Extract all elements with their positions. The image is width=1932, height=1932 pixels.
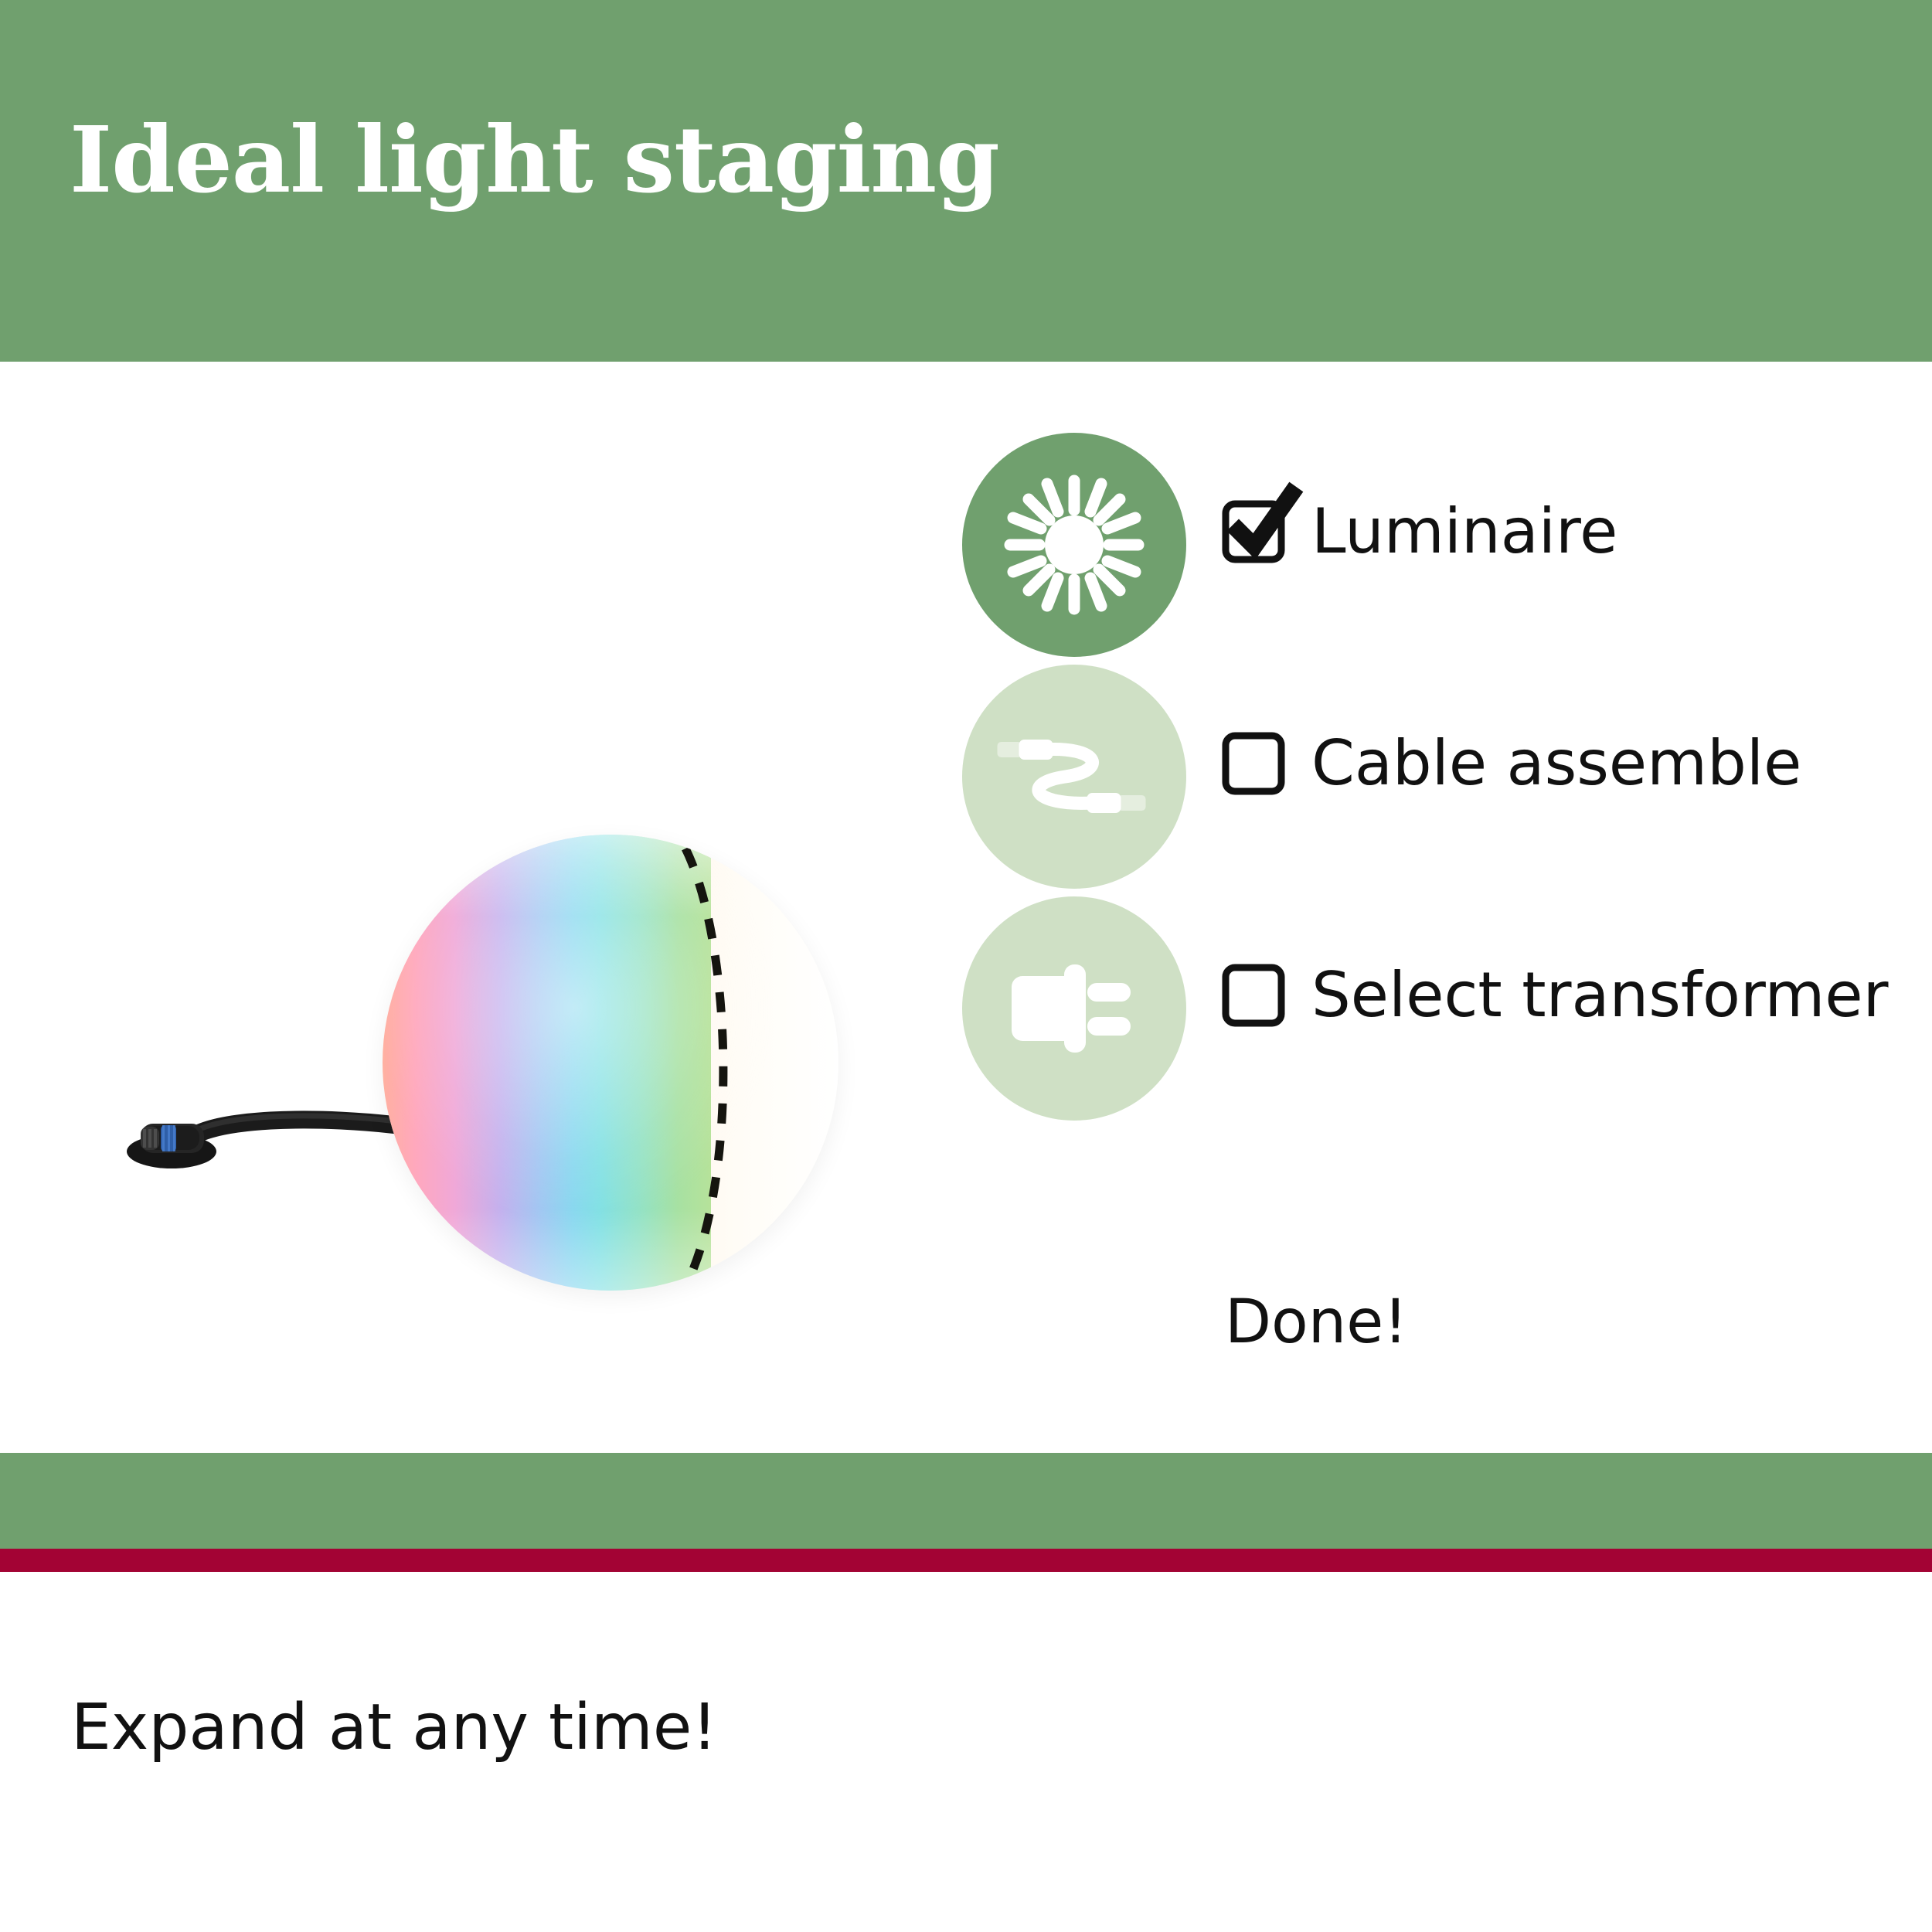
checklist-label-luminaire: Luminaire	[1311, 501, 1617, 563]
footer-green-band	[0, 1453, 1932, 1549]
checkbox-luminaire[interactable]	[1225, 503, 1282, 560]
cable-icon	[992, 715, 1158, 838]
cable-icon-circle	[962, 665, 1186, 889]
page-root: Ideal light staging	[0, 0, 1932, 1932]
checkbox-unchecked-icon	[1216, 940, 1307, 1032]
checklist-item-cable[interactable]: Cable assemble	[1225, 733, 1801, 794]
done-text: Done!	[1225, 1292, 1407, 1352]
globe-dashed-divider	[383, 835, 838, 1291]
checkbox-checked-icon	[1216, 477, 1307, 568]
footer-text: Expand at any time!	[71, 1696, 717, 1760]
sun-icon-circle	[962, 433, 1186, 657]
checkbox-unchecked-icon	[1216, 709, 1307, 800]
checklist: Luminaire Cable assemb	[962, 433, 1920, 1128]
page-title: Ideal light staging	[70, 114, 999, 206]
checklist-item-luminaire[interactable]: Luminaire	[1225, 501, 1617, 563]
checklist-row-transformer[interactable]: Select transformer	[962, 896, 1920, 1128]
plug-icon	[1001, 951, 1148, 1066]
checkbox-cable[interactable]	[1225, 735, 1282, 792]
sun-icon	[1001, 471, 1148, 618]
checklist-row-cable[interactable]: Cable assemble	[962, 665, 1920, 896]
plug-icon-circle	[962, 896, 1186, 1121]
checklist-row-luminaire[interactable]: Luminaire	[962, 433, 1920, 665]
checkbox-transformer[interactable]	[1225, 967, 1282, 1024]
checklist-label-cable: Cable assemble	[1311, 733, 1801, 794]
checklist-label-transformer: Select transformer	[1311, 964, 1889, 1026]
footer-red-band	[0, 1549, 1932, 1572]
checklist-item-transformer[interactable]: Select transformer	[1225, 964, 1889, 1026]
globe-sphere	[383, 835, 838, 1291]
product-image	[31, 680, 866, 1252]
